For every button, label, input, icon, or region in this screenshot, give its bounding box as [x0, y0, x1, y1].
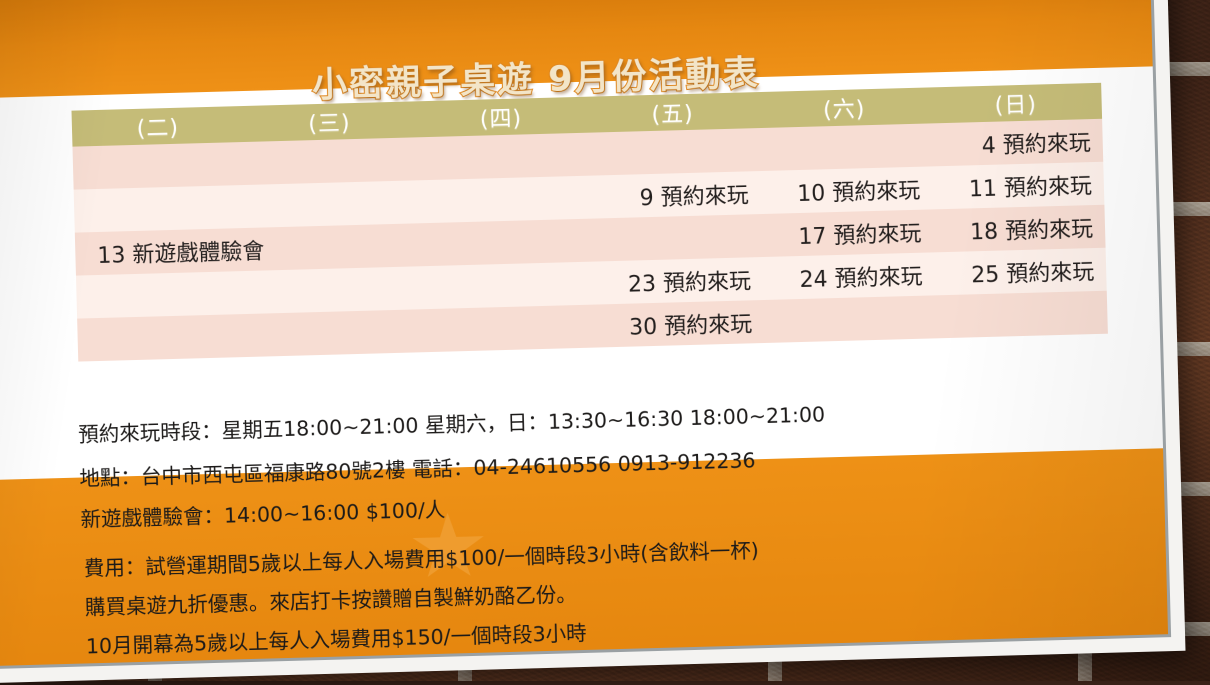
calendar-cell [416, 133, 589, 181]
calendar-cell [244, 137, 417, 185]
calendar-cell [248, 266, 421, 314]
calendar-cell: 23 預約來玩 [591, 257, 764, 305]
calendar-cell: 30 預約來玩 [592, 300, 765, 348]
calendar-cell [246, 223, 419, 271]
calendar-cell [417, 176, 590, 224]
calendar-cell [418, 219, 591, 267]
calendar-cell: 13 新遊戲體驗會 [75, 228, 248, 276]
calendar-cell [245, 180, 418, 228]
info-line-trial-session: 新遊戲體驗會：14:00~16:00 $100/人 [80, 493, 446, 533]
poster-content: 小密親子桌遊 9月份活動表 (二) (三) (四) (五) (六) (日) [0, 0, 1168, 668]
weekday-header-wed: (三) [243, 101, 416, 142]
calendar-cell [77, 314, 250, 362]
weekday-header-thu: (四) [415, 97, 588, 138]
calendar-cell: 24 預約來玩 [762, 252, 935, 300]
calendar-cell: 11 預約來玩 [932, 162, 1105, 210]
calendar-cell [419, 262, 592, 310]
weekday-header-fri: (五) [586, 92, 759, 133]
calendar-cell [249, 309, 422, 357]
poster-frame: 小密親子桌遊 9月份活動表 (二) (三) (四) (五) (六) (日) [0, 0, 1171, 671]
activity-calendar-table: (二) (三) (四) (五) (六) (日) [71, 83, 1107, 362]
calendar-cell [759, 123, 932, 171]
calendar-cell [935, 291, 1108, 339]
calendar-cell [763, 295, 936, 343]
calendar-cell: 25 預約來玩 [934, 248, 1107, 296]
weekday-header-sat: (六) [758, 87, 931, 128]
info-line-fee: 費用：試營運期間5歲以上每人入場費用$100/一個時段3小時(含飲料一杯) [83, 533, 759, 581]
weekday-header-sun: (日) [929, 83, 1102, 124]
poster-white-border: 小密親子桌遊 9月份活動表 (二) (三) (四) (五) (六) (日) [0, 0, 1186, 685]
calendar-cell: 10 預約來玩 [760, 166, 933, 214]
info-line-october-fee: 10月開幕為5歲以上每人入場費用$150/一個時段3小時 [86, 616, 587, 660]
calendar-cell [587, 128, 760, 176]
calendar-cell [74, 185, 247, 233]
weekday-header-tue: (二) [71, 106, 244, 147]
calendar-cell [590, 214, 763, 262]
poster: 小密親子桌遊 9月份活動表 (二) (三) (四) (五) (六) (日) [0, 0, 1186, 685]
calendar-cell: 17 預約來玩 [761, 209, 934, 257]
calendar-cell [76, 271, 249, 319]
info-line-discount: 購買桌遊九折優惠。來店打卡按讚贈自製鮮奶酪乙份。 [84, 577, 577, 620]
calendar-cell [420, 305, 593, 353]
calendar-cell [72, 142, 245, 190]
info-line-hours: 預約來玩時段：星期五18:00~21:00 星期六，日：13:30~16:30 … [78, 397, 826, 447]
calendar-cell: 9 預約來玩 [588, 171, 761, 219]
info-line-address-phone: 地點：台中市西屯區福康路80號2樓 電話：04-24610556 0913-91… [79, 443, 756, 491]
calendar-cell: 18 預約來玩 [933, 205, 1106, 253]
calendar-cell: 4 預約來玩 [930, 119, 1103, 167]
